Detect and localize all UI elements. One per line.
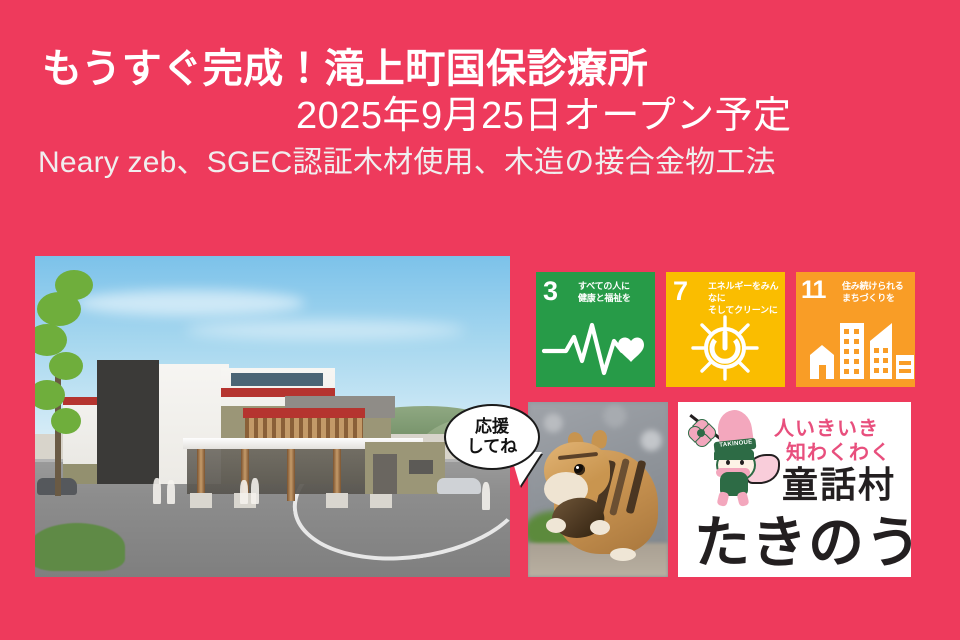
sun-power-icon — [666, 315, 785, 381]
sdg-label-line1: すべての人に — [578, 281, 651, 293]
person-figure — [240, 480, 248, 504]
tree-foliage — [49, 352, 83, 380]
fairy-eye — [740, 460, 744, 465]
chipmunk-paw — [546, 518, 566, 533]
cloud-shape — [185, 320, 465, 340]
sdg-number: 11 — [801, 278, 825, 303]
chipmunk-eye — [574, 464, 585, 475]
sdg-label-line2: まちづくりを — [842, 293, 911, 305]
column-base — [370, 493, 392, 508]
sdg-badge-7: 7 エネルギーをみんなに そしてクリーンに — [666, 272, 785, 387]
side-window — [409, 460, 433, 474]
sdg-badge-3: 3 すべての人に 健康と福祉を — [536, 272, 655, 387]
fairy-eye — [726, 460, 730, 465]
open-date-subtitle: 2025年9月25日オープン予定 — [0, 96, 960, 137]
fairy-hair — [714, 446, 754, 460]
person-figure — [482, 482, 490, 510]
entrance-red-roof — [243, 408, 365, 418]
sdg-label-line1: エネルギーをみんなに — [708, 281, 781, 305]
poster-root: もうすぐ完成！滝上町国保診療所 2025年9月25日オープン予定 Neary z… — [0, 0, 960, 640]
clerestory-window — [231, 373, 323, 386]
tree-foliage — [51, 408, 81, 434]
wooden-slat-roof — [245, 418, 363, 438]
cityscape-icon — [796, 315, 915, 381]
dark-tower-volume — [97, 360, 159, 484]
sdg-number: 3 — [543, 278, 557, 305]
sdg-label-line2: 健康と福祉を — [578, 293, 651, 305]
bubble-line-1: 応援 — [475, 417, 509, 436]
side-entrance-door — [373, 454, 397, 494]
spec-subtitle: Neary zeb、SGEC認証木材使用、木造の接合金物工法 — [0, 146, 960, 179]
sdg-label: エネルギーをみんなに そしてクリーンに — [708, 281, 781, 317]
flower-center — [697, 429, 705, 437]
parked-car — [437, 478, 481, 494]
heartbeat-icon — [536, 315, 655, 381]
chipmunk-photo — [528, 402, 668, 577]
person-figure — [153, 478, 161, 504]
sdg-badge-row: 3 すべての人に 健康と福祉を 7 エネルギーをみんなに そしてクリーンに — [536, 272, 915, 387]
bubble-line-2: してね — [467, 437, 518, 456]
person-figure — [251, 478, 259, 504]
cloud-shape — [75, 290, 305, 316]
sdg-label: すべての人に 健康と福祉を — [578, 281, 651, 305]
sdg-badge-11: 11 住み続けられる まちづくりを — [796, 272, 915, 387]
column-base — [190, 493, 212, 508]
clinic-rendering-image — [35, 256, 510, 577]
headline-block: もうすぐ完成！滝上町国保診療所 2025年9月25日オープン予定 Neary z… — [0, 48, 960, 179]
chipmunk-hind-paw — [610, 548, 636, 561]
person-figure — [167, 480, 175, 504]
sdg-label: 住み続けられる まちづくりを — [842, 281, 911, 305]
flower-icon — [688, 420, 714, 446]
fairy-mascot: TAKINOUE — [690, 410, 782, 506]
sdg-number: 7 — [673, 278, 687, 305]
chipmunk-paw — [590, 520, 610, 535]
shrub — [35, 523, 125, 571]
page-title: もうすぐ完成！滝上町国保診療所 — [0, 48, 960, 90]
wood-column — [287, 449, 295, 501]
speech-bubble: 応援 してね — [444, 404, 540, 470]
takinoue-logo: TAKINOUE 人いきいき 知わくわく 童話村 たきのうえ — [678, 402, 911, 577]
column-base — [326, 493, 348, 508]
tree-foliage — [55, 270, 93, 300]
sdg-label-line1: 住み続けられる — [842, 281, 911, 293]
logo-title-sub: たきのうえ — [694, 498, 911, 577]
